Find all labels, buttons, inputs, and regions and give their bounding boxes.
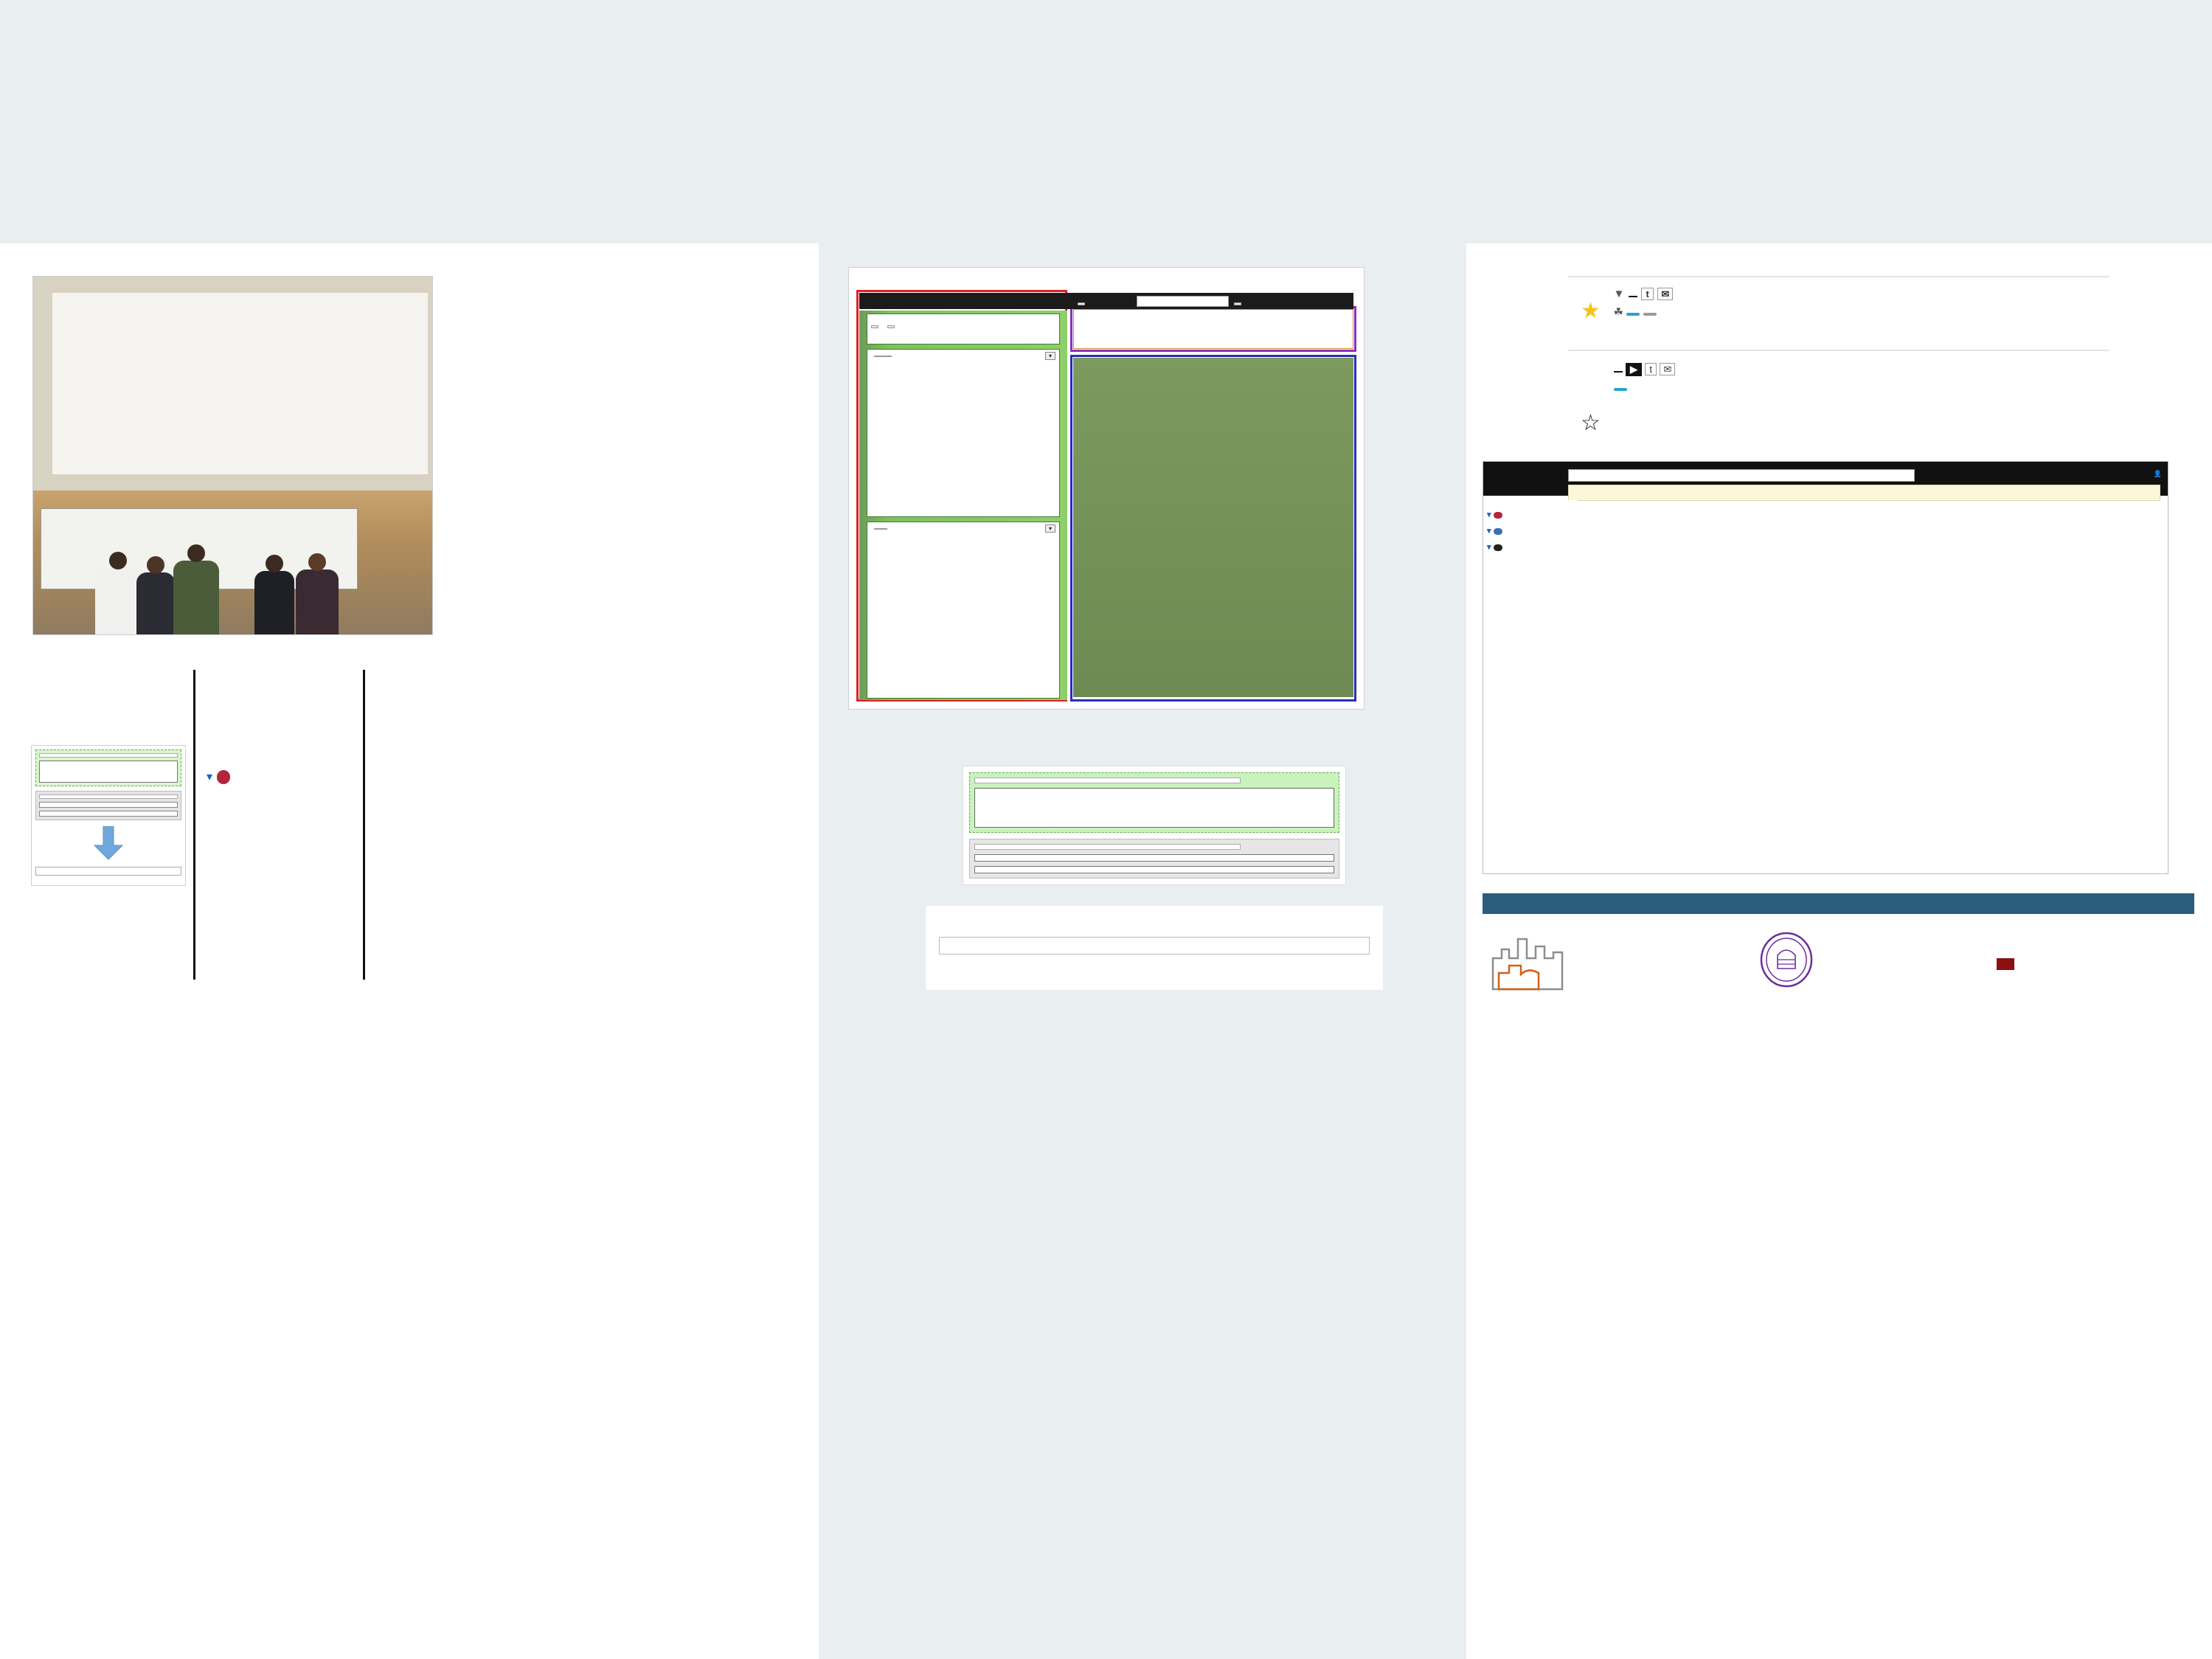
poster-header <box>0 0 2212 243</box>
unclustered-group-mini <box>35 791 181 820</box>
unclustered-group <box>969 839 1339 879</box>
recommended-tag <box>1614 388 1627 391</box>
frenzy-search-input[interactable] <box>1137 296 1229 307</box>
cobi-sidebar[interactable]: ▾ ▾ ▾ <box>1483 500 1578 873</box>
conflicts-section-header[interactable]: ▾ <box>1487 510 1574 519</box>
pillar-3-title <box>376 677 524 727</box>
paper-item[interactable] <box>974 866 1334 873</box>
confer-paper-row[interactable]: ☆ ▶ t ✉ <box>1568 350 2109 436</box>
medal-icon: ☘ <box>1614 306 1623 319</box>
cobi-search-input[interactable] <box>1568 469 1915 482</box>
committeesourcing-subtitle <box>848 729 1460 758</box>
committeesourcing-screenshot[interactable] <box>963 766 1346 885</box>
cobi-main-area <box>1579 500 2168 873</box>
author-name-input[interactable] <box>939 937 1370 955</box>
authorsourcing-screenshot[interactable] <box>926 906 1383 990</box>
northwestern-logo <box>1751 930 1822 997</box>
cobi-notice-bar <box>1568 485 2160 501</box>
preferences-section-header[interactable]: ▾ <box>1487 526 1574 536</box>
acknowledgement-header <box>1483 893 2194 914</box>
history-section-header[interactable]: ▾ <box>1487 542 1574 552</box>
preferences-badge <box>1494 528 1502 535</box>
chevron-down-icon: ▾ <box>207 771 212 783</box>
sessions-sort-select[interactable] <box>874 356 892 357</box>
unclustered-label <box>974 844 1241 850</box>
paper-item-mini[interactable] <box>39 811 178 817</box>
twitter-icon[interactable]: t <box>1641 288 1653 300</box>
goal-panel <box>867 314 1060 344</box>
planning-room-photo <box>33 491 433 635</box>
history-badge <box>1494 544 1502 551</box>
conflicts-badge <box>1494 512 1502 519</box>
committeesourcing-mini-screenshot[interactable] <box>31 745 186 886</box>
three-pillars: ▾ <box>22 677 797 1031</box>
confer-session-row[interactable]: ★ ▼ t ✉ ☘ <box>1568 276 2109 342</box>
pillar-divider-1 <box>193 670 195 980</box>
confer-session-title[interactable]: ▼ t ✉ <box>1614 285 2109 302</box>
pillar-divider-2 <box>363 670 365 980</box>
email-icon[interactable]: ✉ <box>1657 288 1673 300</box>
column-systems: ★ ▼ t ✉ ☘ <box>1483 258 2194 997</box>
paper-item[interactable] <box>974 854 1334 862</box>
categories-panel[interactable]: ▾ <box>867 522 1060 699</box>
author-form-mini[interactable] <box>35 867 181 876</box>
institution-logos <box>1483 930 2194 997</box>
email-icon[interactable]: ✉ <box>1660 363 1675 375</box>
pillar-encoding-constraints: ▾ <box>207 677 354 790</box>
chi-statistics <box>465 342 789 357</box>
group-name-input-mini[interactable] <box>39 753 178 758</box>
confer-screenshot[interactable]: ★ ▼ t ✉ ☘ <box>1555 269 2123 443</box>
drag-paper-area-mini[interactable] <box>39 761 178 783</box>
conflicts-count-badge <box>217 770 230 784</box>
chevron-down-icon[interactable]: ▾ <box>1045 352 1055 360</box>
play-icon[interactable]: ▶ <box>1626 363 1642 376</box>
frenzy-screenshot[interactable]: ▾ ▾ <box>848 267 1365 710</box>
pillar-communitysourcing <box>31 677 186 886</box>
new-group-dropzone-mini[interactable] <box>35 749 181 786</box>
cobi-screenshot[interactable]: 👤 ▾ ▾ ▾ <box>1483 461 2168 874</box>
conflicts-mini-screenshot[interactable]: ▾ <box>207 766 354 785</box>
results-feed-pane <box>1073 358 1353 697</box>
down-arrow-icon <box>35 826 181 862</box>
chevron-down-icon[interactable]: ▼ <box>1614 288 1625 300</box>
recommended-tag <box>1626 313 1640 316</box>
sqv-badge[interactable] <box>1629 296 1637 297</box>
pillar-mixed-initiative <box>376 677 524 760</box>
show-all-papers-button[interactable] <box>1078 296 1085 309</box>
complete-count-button[interactable] <box>871 325 878 328</box>
drag-paper-area[interactable] <box>974 788 1334 828</box>
csail-logo <box>1487 930 1575 997</box>
star-outline-icon[interactable]: ☆ <box>1581 411 1601 435</box>
column-tools: ▾ ▾ <box>848 258 1460 990</box>
new-group-dropzone[interactable] <box>969 772 1339 833</box>
unsessioned-count-button[interactable] <box>887 325 895 328</box>
name-input-mini[interactable] <box>35 867 181 876</box>
unclustered-label-mini <box>39 794 178 799</box>
results-hyperbar-panel[interactable] <box>1073 309 1353 349</box>
star-filled-icon[interactable]: ★ <box>1581 299 1601 323</box>
chevron-down-icon[interactable]: ▾ <box>1045 524 1055 533</box>
paper-board-image <box>33 277 433 491</box>
chi-stats-block <box>22 276 797 645</box>
pbp-badge[interactable] <box>1614 371 1623 373</box>
conflicts-header-mini[interactable]: ▾ <box>207 766 354 785</box>
conference-board-photo <box>32 276 433 635</box>
paper-item-mini[interactable] <box>39 802 178 808</box>
group-name-input[interactable] <box>974 777 1241 783</box>
column-problem: ▾ <box>22 258 797 1031</box>
frenzy-search-button[interactable] <box>1234 296 1241 309</box>
frenzy-toolbar <box>859 293 1353 309</box>
sessions-panel[interactable]: ▾ <box>867 349 1060 517</box>
twitter-icon[interactable]: t <box>1645 363 1657 375</box>
pillar-2-title <box>207 677 354 702</box>
cmu-logo <box>1997 958 2014 970</box>
categories-sort-select[interactable] <box>874 528 887 530</box>
pillar-1-title <box>31 677 186 702</box>
cci-tag <box>1643 313 1657 316</box>
cobi-user-label[interactable]: 👤 <box>2154 470 2162 478</box>
